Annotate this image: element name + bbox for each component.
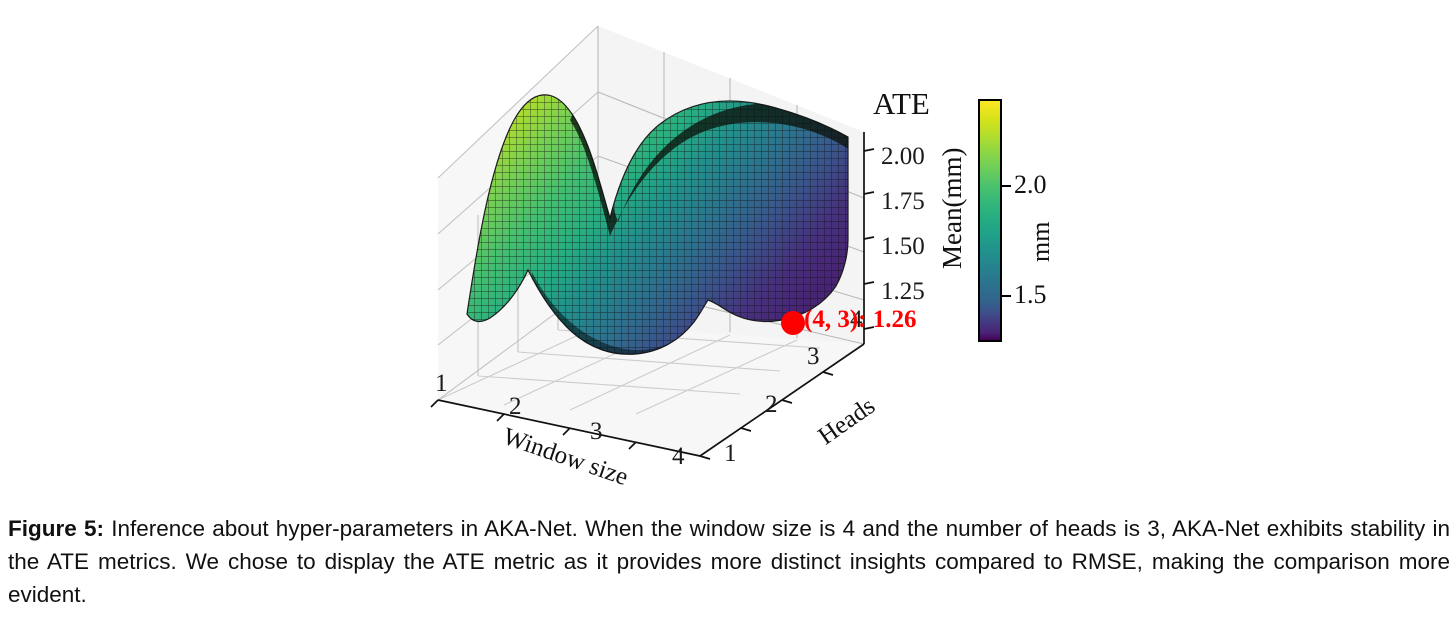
z-tick-label-200: 2.00: [881, 144, 925, 169]
z-axis-title: ATE: [873, 86, 930, 122]
z-axis-ticks: [864, 149, 874, 329]
z-tick-label-175: 1.75: [881, 189, 925, 214]
x-tick-label-3: 3: [590, 419, 603, 444]
colorbar: [978, 99, 1002, 342]
colorbar-tick-label-lower: 1.5: [1014, 282, 1047, 308]
colorbar-tick-label-upper: 2.0: [1014, 172, 1047, 198]
minimum-annotation-label: (4, 3): 1.26: [804, 307, 916, 332]
y-tick-label-2: 2: [765, 392, 778, 417]
x-tick-label-2: 2: [509, 394, 522, 419]
y-tick-label-1: 1: [724, 441, 737, 466]
colorbar-gradient: [978, 99, 1002, 342]
colorbar-unit-label: mm: [1026, 222, 1056, 262]
z-axis-label: Mean(mm): [939, 148, 966, 269]
colorbar-tick-upper: [1002, 185, 1011, 187]
plot-canvas: [404, 4, 964, 504]
x-tick-label-4: 4: [672, 444, 685, 469]
z-tick-label-125: 1.25: [881, 279, 925, 304]
colorbar-tick-lower: [1002, 295, 1011, 297]
figure-caption: Figure 5: Inference about hyper-paramete…: [8, 512, 1450, 611]
surface-plot-3d: 1 2 3 4 1 2 3 4 2.00 1.75 1.50 1.25 ATE …: [404, 4, 964, 504]
figure-caption-text: Inference about hyper-parameters in AKA-…: [8, 516, 1450, 607]
figure-5-container: 1 2 3 4 1 2 3 4 2.00 1.75 1.50 1.25 ATE …: [0, 0, 1456, 625]
y-tick-label-3: 3: [807, 344, 820, 369]
figure-caption-label: Figure 5:: [8, 516, 104, 541]
z-tick-label-150: 1.50: [881, 234, 925, 259]
x-tick-label-1: 1: [435, 371, 448, 396]
red-dot-marker: [781, 311, 805, 335]
